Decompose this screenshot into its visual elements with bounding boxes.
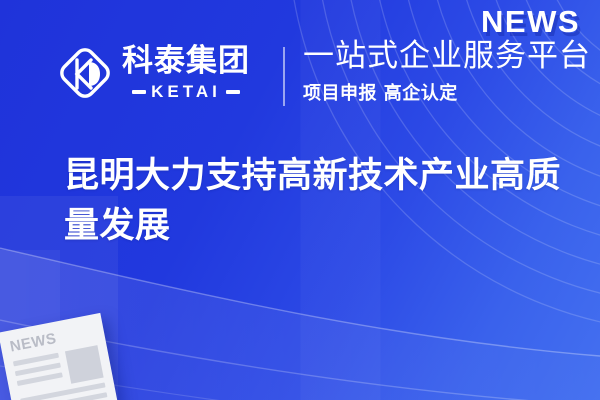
logo-name-cn: 科泰集团 <box>122 46 250 77</box>
tagline-main: 一站式企业服务平台 <box>303 40 591 73</box>
logo-name-en: KETAI <box>151 83 221 100</box>
ketai-diamond-kd-logo-icon <box>57 42 113 104</box>
page-title: 昆明大力支持高新技术产业高质量发展 <box>64 152 564 251</box>
vertical-divider-icon <box>283 47 285 106</box>
logo-dash-left-icon <box>132 90 146 94</box>
news-banner: 科泰集团 KETAI 一站式企业服务平台 项目申报 高企认定 NEWS 昆明大力… <box>0 0 600 400</box>
logo-dash-right-icon <box>226 90 240 94</box>
company-logo[interactable]: 科泰集团 KETAI <box>57 42 250 104</box>
banner-header: 科泰集团 KETAI 一站式企业服务平台 项目申报 高企认定 NEWS <box>0 0 600 140</box>
newspaper-photo-block-icon <box>65 345 104 384</box>
news-badge: NEWS <box>481 4 580 40</box>
tagline-block: 一站式企业服务平台 项目申报 高企认定 <box>303 40 591 105</box>
tagline-sub: 项目申报 高企认定 <box>303 79 591 105</box>
